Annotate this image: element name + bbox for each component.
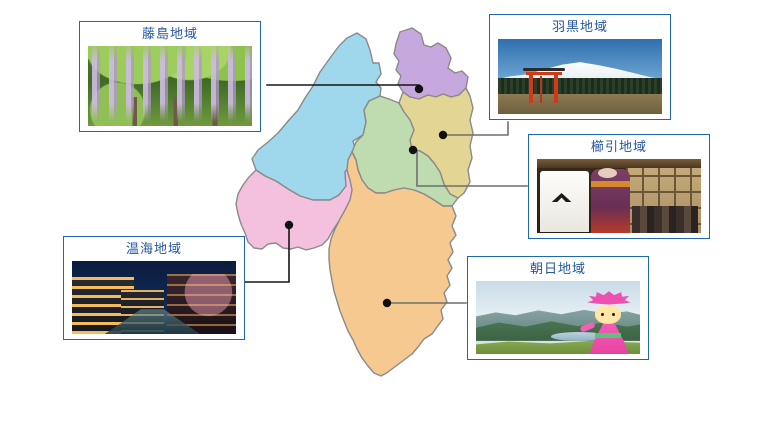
callout-title-atsumi: 温海地域 bbox=[126, 241, 182, 258]
callout-fujishima[interactable]: 藤島地域 bbox=[79, 21, 261, 132]
callout-kushibiki[interactable]: 櫛引地域 bbox=[528, 134, 710, 239]
callout-haguro[interactable]: 羽黒地域 bbox=[489, 14, 671, 120]
callout-title-fujishima: 藤島地域 bbox=[142, 26, 198, 43]
photo-atsumi bbox=[72, 261, 236, 334]
callout-title-kushibiki: 櫛引地域 bbox=[591, 139, 647, 156]
map-infographic: 藤島地域 羽黒地域 櫛引地域 bbox=[0, 0, 763, 426]
callout-atsumi[interactable]: 温海地域 bbox=[63, 236, 245, 340]
photo-fujishima bbox=[88, 46, 252, 126]
callout-asahi[interactable]: 朝日地域 bbox=[467, 256, 649, 360]
callout-title-haguro: 羽黒地域 bbox=[552, 19, 608, 36]
map-region-haguro[interactable] bbox=[394, 28, 468, 99]
mascot-character-icon bbox=[578, 291, 637, 354]
torii-gate-icon bbox=[523, 65, 566, 104]
photo-asahi bbox=[476, 281, 640, 354]
photo-haguro bbox=[498, 39, 662, 114]
callout-title-asahi: 朝日地域 bbox=[530, 261, 586, 278]
photo-kushibiki bbox=[537, 159, 701, 233]
